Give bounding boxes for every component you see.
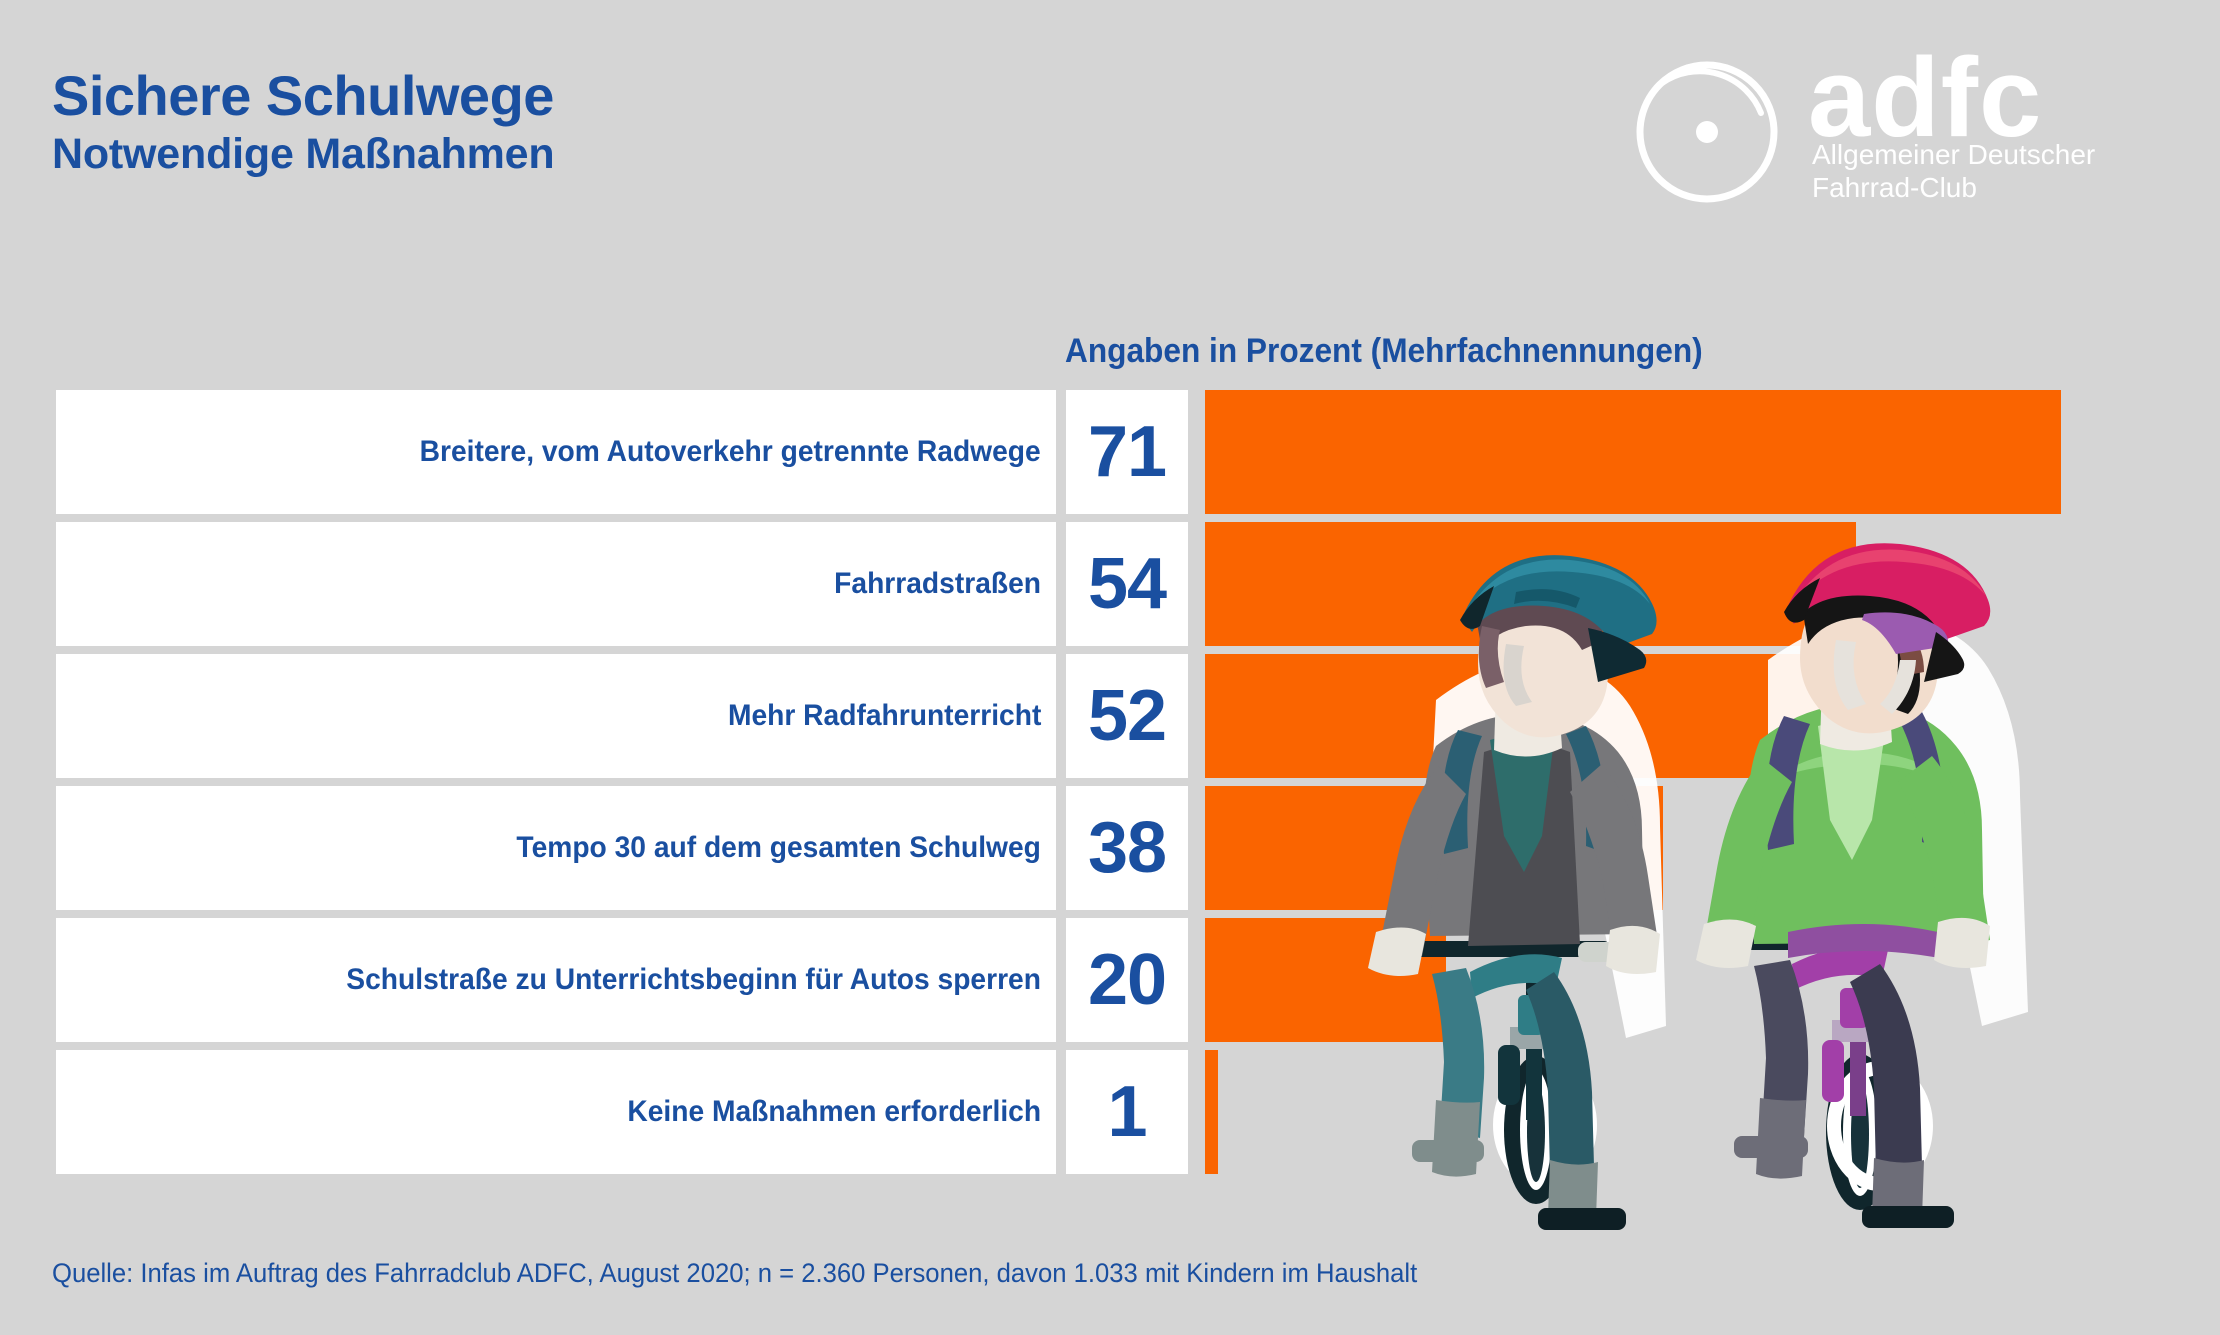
measure-value-box: 54: [1066, 522, 1188, 646]
measure-label-box: Fahrradstraßen: [56, 522, 1056, 646]
measure-value: 20: [1088, 944, 1166, 1016]
bar-segment: [1205, 390, 2061, 514]
infographic-poster: Sichere Schulwege Notwendige Maßnahmen a…: [0, 0, 2220, 1335]
measure-value: 54: [1088, 548, 1166, 620]
bar-segment: [1205, 786, 1663, 910]
measure-value-box: 1: [1066, 1050, 1188, 1174]
measure-label: Mehr Radfahrunterricht: [728, 699, 1056, 733]
measure-label: Keine Maßnahmen erforderlich: [627, 1095, 1056, 1129]
measure-label-box: Tempo 30 auf dem gesamten Schulweg: [56, 786, 1056, 910]
measure-label-box: Breitere, vom Autoverkehr getrennte Radw…: [56, 390, 1056, 514]
measure-value-box: 38: [1066, 786, 1188, 910]
bar-segment: [1205, 918, 1446, 1042]
measure-label-box: Keine Maßnahmen erforderlich: [56, 1050, 1056, 1174]
measure-label-box: Schulstraße zu Unterrichtsbeginn für Aut…: [56, 918, 1056, 1042]
measure-value-box: 52: [1066, 654, 1188, 778]
bar-segment: [1205, 1050, 1218, 1174]
source-note: Quelle: Infas im Auftrag des Fahrradclub…: [52, 1258, 1417, 1289]
bar-chart: Breitere, vom Autoverkehr getrennte Radw…: [0, 0, 2220, 1335]
measure-label: Tempo 30 auf dem gesamten Schulweg: [517, 831, 1056, 865]
measure-value: 38: [1088, 812, 1166, 884]
bar-segment: [1205, 654, 1832, 778]
measure-value: 52: [1088, 680, 1166, 752]
bar-segment: [1205, 522, 1856, 646]
measure-label-box: Mehr Radfahrunterricht: [56, 654, 1056, 778]
measure-label: Fahrradstraßen: [834, 567, 1056, 601]
measure-label: Schulstraße zu Unterrichtsbeginn für Aut…: [346, 963, 1056, 997]
measure-value-box: 20: [1066, 918, 1188, 1042]
measure-label: Breitere, vom Autoverkehr getrennte Radw…: [420, 435, 1056, 469]
measure-value: 71: [1088, 416, 1166, 488]
measure-value: 1: [1107, 1076, 1146, 1148]
measure-value-box: 71: [1066, 390, 1188, 514]
